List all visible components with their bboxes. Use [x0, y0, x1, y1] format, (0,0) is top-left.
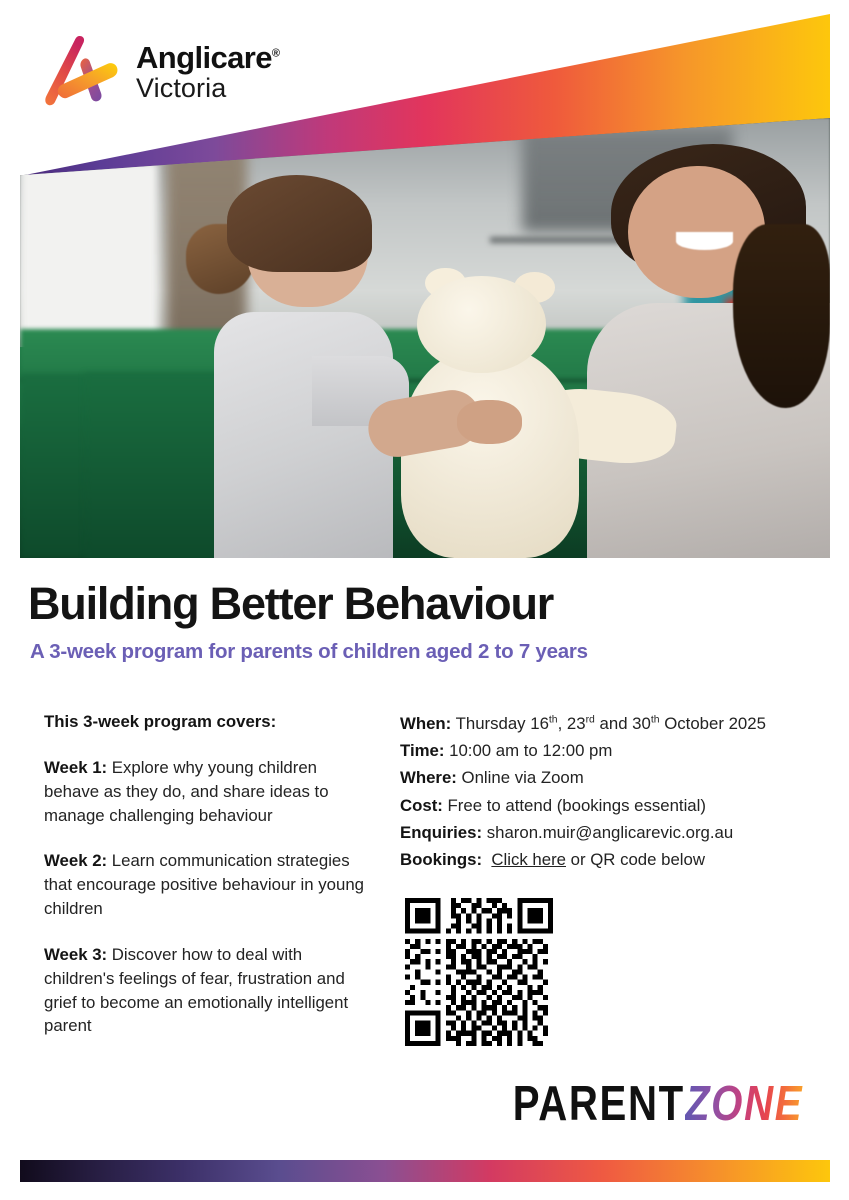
photo-woman-smile — [676, 232, 733, 250]
program-overview-column: This 3-week program covers: Week 1: Expl… — [44, 710, 374, 1038]
when-value-part3: and 30 — [595, 714, 651, 733]
when-label: When: — [400, 714, 451, 733]
anglicare-wordmark-line1: Anglicare® — [136, 42, 279, 73]
parentzone-word-parent: PARENT — [513, 1076, 685, 1132]
booking-qr-code[interactable] — [405, 898, 553, 1046]
program-lead-text: This 3-week program covers: — [44, 710, 374, 734]
bookings-click-here-link[interactable]: Click here — [491, 850, 566, 869]
poster-page: Anglicare® Victoria — [0, 0, 849, 1200]
week-1-label: Week 1: — [44, 758, 107, 777]
bookings-label: Bookings: — [400, 850, 482, 869]
anglicare-wordmark-line2: Victoria — [136, 75, 279, 102]
program-week-2: Week 2: Learn communication strategies t… — [44, 849, 374, 921]
when-value-part2: , 23 — [558, 714, 586, 733]
when-ordinal-3: th — [651, 714, 660, 725]
photo-teddy-body — [401, 347, 579, 558]
where-label: Where: — [400, 768, 457, 787]
anglicare-a-mark-icon — [42, 32, 122, 110]
detail-enquiries: Enquiries: sharon.muir@anglicarevic.org.… — [400, 819, 820, 846]
time-value: 10:00 am to 12:00 pm — [444, 741, 612, 760]
when-ordinal-1: th — [549, 714, 558, 725]
when-ordinal-2: rd — [586, 714, 595, 725]
week-3-label: Week 3: — [44, 945, 107, 964]
photo-child-hair — [227, 175, 373, 272]
detail-bookings: Bookings: Click here or QR code below — [400, 846, 820, 873]
enquiries-email[interactable]: sharon.muir@anglicarevic.org.au — [482, 823, 733, 842]
hero-photo-scene — [20, 118, 830, 558]
bottom-gradient-bar — [20, 1160, 830, 1182]
photo-child-hand — [457, 400, 522, 444]
hero-photo — [20, 118, 830, 558]
event-details-column: When: Thursday 16th, 23rd and 30th Octob… — [400, 710, 820, 873]
anglicare-logo: Anglicare® Victoria — [42, 32, 279, 110]
week-2-label: Week 2: — [44, 851, 107, 870]
detail-when: When: Thursday 16th, 23rd and 30th Octob… — [400, 710, 820, 737]
when-value-part1: Thursday 16 — [451, 714, 549, 733]
time-label: Time: — [400, 741, 444, 760]
parentzone-word-zone: ZONE — [685, 1076, 803, 1132]
page-subtitle: A 3-week program for parents of children… — [30, 640, 588, 664]
detail-where: Where: Online via Zoom — [400, 764, 820, 791]
photo-background-panel — [20, 162, 158, 338]
program-week-3: Week 3: Discover how to deal with childr… — [44, 943, 374, 1038]
detail-time: Time: 10:00 am to 12:00 pm — [400, 737, 820, 764]
where-value: Online via Zoom — [457, 768, 584, 787]
cost-value: Free to attend (bookings essential) — [443, 796, 706, 815]
when-value-part4: October 2025 — [660, 714, 766, 733]
cost-label: Cost: — [400, 796, 443, 815]
bookings-tail-text: or QR code below — [566, 850, 705, 869]
page-title: Building Better Behaviour — [28, 578, 553, 630]
detail-cost: Cost: Free to attend (bookings essential… — [400, 792, 820, 819]
anglicare-wordmark: Anglicare® Victoria — [136, 40, 279, 102]
qr-code-icon[interactable] — [405, 898, 553, 1046]
registered-trademark-icon: ® — [272, 48, 280, 60]
program-week-1: Week 1: Explore why young children behav… — [44, 756, 374, 828]
parentzone-logo: PARENTZONE — [475, 1076, 829, 1132]
enquiries-label: Enquiries: — [400, 823, 482, 842]
photo-teddy-head — [417, 276, 547, 373]
photo-child-body — [214, 312, 392, 558]
